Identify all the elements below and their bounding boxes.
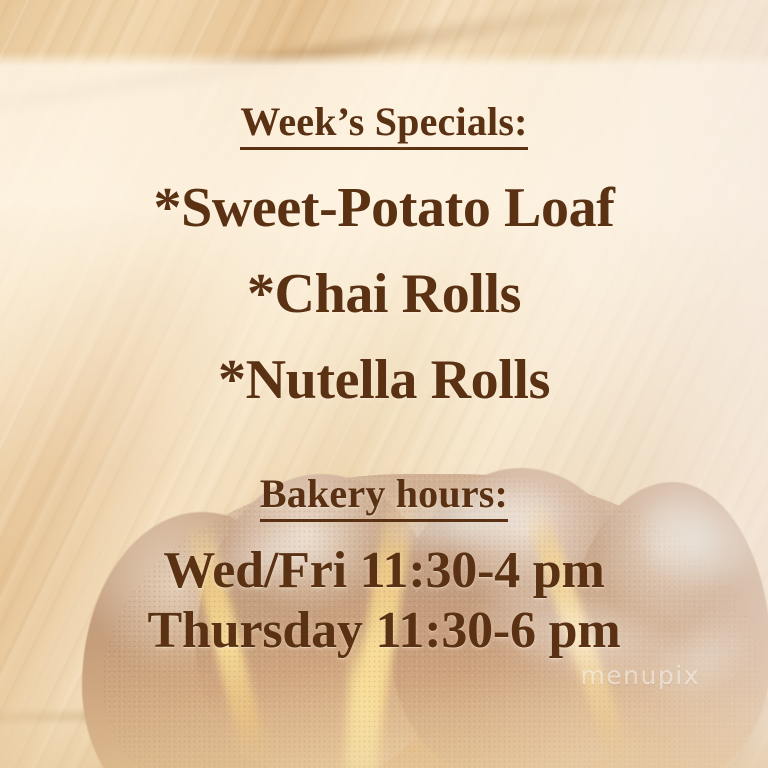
hours-line-1: Wed/Fri 11:30-4 pm <box>0 545 768 597</box>
special-item-3: *Nutella Rolls <box>0 352 768 408</box>
bakery-specials-poster: Week’s Specials: *Sweet-Potato Loaf *Cha… <box>0 0 768 768</box>
hours-line-2: Thursday 11:30-6 pm <box>0 605 768 657</box>
special-item-1: *Sweet-Potato Loaf <box>0 180 768 236</box>
hours-heading-text: Bakery hours: <box>260 474 508 522</box>
specials-heading: Week’s Specials: <box>0 102 768 150</box>
menupix-watermark: menupix <box>580 661 700 690</box>
special-item-2: *Chai Rolls <box>0 266 768 322</box>
poster-text-overlay: Week’s Specials: *Sweet-Potato Loaf *Cha… <box>0 0 768 768</box>
hours-heading: Bakery hours: <box>0 474 768 522</box>
specials-heading-text: Week’s Specials: <box>240 102 527 150</box>
